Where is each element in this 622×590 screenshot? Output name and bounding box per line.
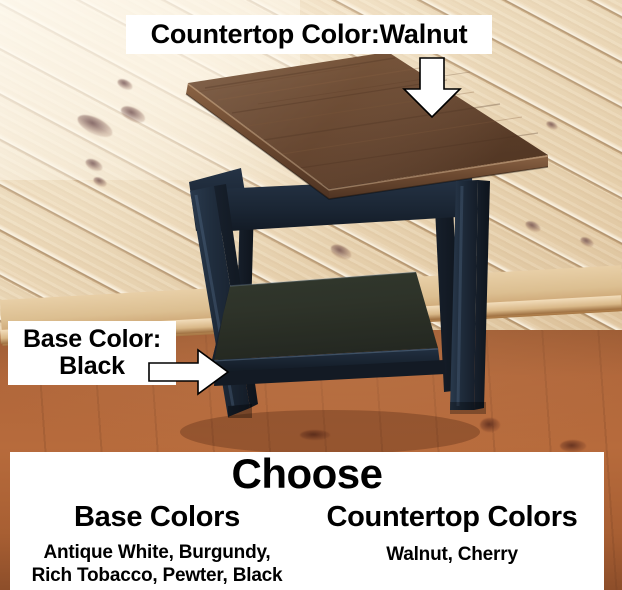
callout-base-color-line2: Black [59, 353, 125, 380]
callout-countertop-color: Countertop Color:Walnut [126, 15, 492, 54]
arrow-down-icon [398, 57, 466, 119]
floor-knot [480, 418, 500, 432]
base-colors-list: Antique White, Burgundy, Rich Tobacco, P… [12, 541, 302, 587]
callout-base-color-line1: Base Color: [23, 326, 161, 353]
product-photo-scene: Countertop Color:Walnut Base Color: Blac… [0, 0, 622, 590]
floor-knot [560, 440, 586, 452]
info-panel-title: Choose [10, 452, 604, 498]
countertop-colors-column: Countertop Colors Walnut, Cherry [302, 500, 602, 566]
base-colors-column: Base Colors Antique White, Burgundy, Ric… [12, 500, 302, 587]
base-colors-heading: Base Colors [12, 500, 302, 535]
floor-knot [300, 430, 330, 440]
arrow-right-icon [148, 348, 230, 396]
countertop-colors-list-line1: Walnut, Cherry [302, 543, 602, 566]
base-colors-list-line2: Rich Tobacco, Pewter, Black [12, 564, 302, 587]
options-info-panel: Choose Base Colors Antique White, Burgun… [10, 452, 604, 590]
countertop-colors-heading: Countertop Colors [302, 500, 602, 535]
countertop-colors-list: Walnut, Cherry [302, 543, 602, 566]
base-colors-list-line1: Antique White, Burgundy, [12, 541, 302, 564]
